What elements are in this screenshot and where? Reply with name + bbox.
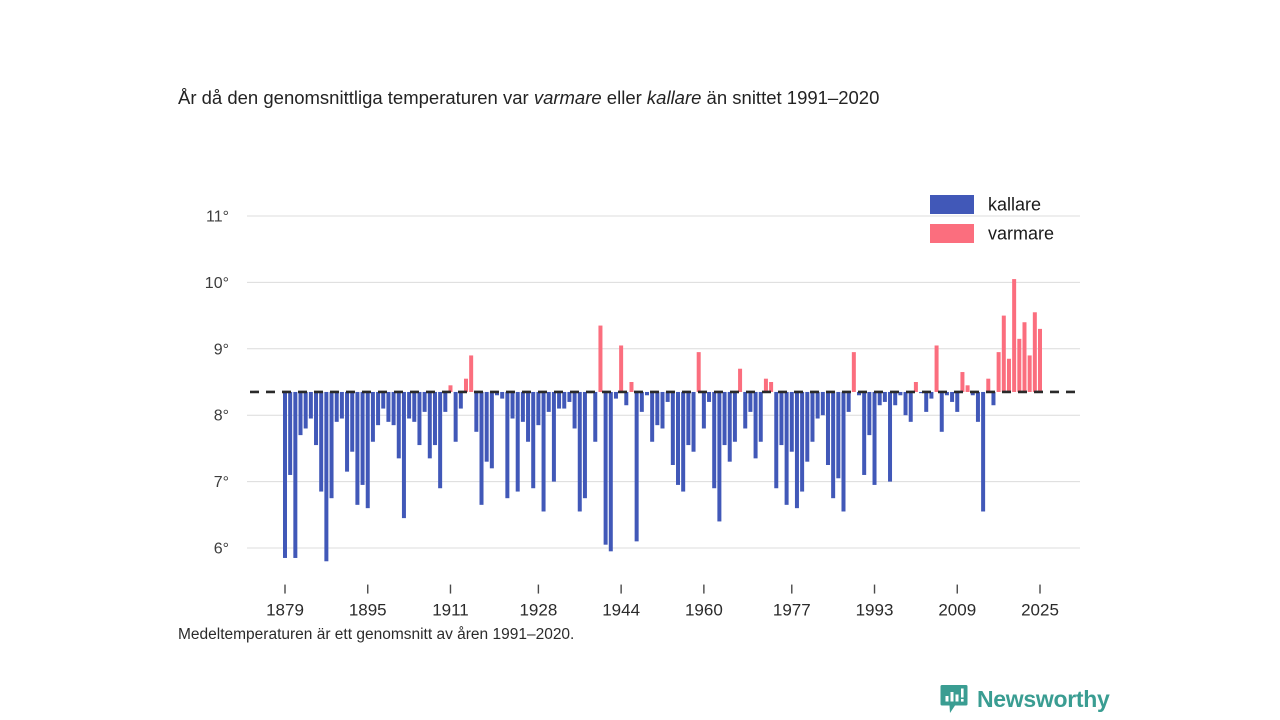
bar-1984[interactable] — [826, 392, 830, 465]
bar-1951[interactable] — [655, 392, 659, 425]
legend-label-kallare[interactable]: kallare — [988, 195, 1041, 215]
bar-1885[interactable] — [314, 392, 318, 445]
bar-1928[interactable] — [536, 392, 540, 425]
bar-2022[interactable] — [1022, 322, 1026, 392]
bar-1881[interactable] — [293, 392, 297, 558]
x-axis-ticks: 1879189519111928194419601977199320092025 — [266, 585, 1059, 620]
bar-1931[interactable] — [552, 392, 556, 482]
chart-legend: kallarevarmare — [930, 195, 1054, 244]
bar-2019[interactable] — [1007, 359, 1011, 392]
gridlines — [247, 216, 1080, 548]
bar-1962[interactable] — [712, 392, 716, 488]
bar-1914[interactable] — [464, 379, 468, 392]
bar-1953[interactable] — [666, 392, 670, 402]
x-axis-tick-label: 1944 — [602, 601, 640, 620]
bar-1958[interactable] — [692, 392, 696, 452]
bar-2018[interactable] — [1002, 316, 1006, 392]
x-axis-tick-label: 1895 — [349, 601, 387, 620]
chart-plot-area: 6°7°8°9°10°11° 1879189519111928194419601… — [0, 0, 1280, 720]
bar-1904[interactable] — [412, 392, 416, 422]
bar-1926[interactable] — [526, 392, 530, 442]
temperature-bar-chart: 6°7°8°9°10°11° 1879189519111928194419601… — [0, 0, 1280, 720]
x-axis-tick-label: 1977 — [773, 601, 811, 620]
bar-1896[interactable] — [371, 392, 375, 442]
bar-1950[interactable] — [650, 392, 654, 442]
bar-1965[interactable] — [728, 392, 732, 462]
bar-2005[interactable] — [935, 345, 939, 391]
bar-1971[interactable] — [759, 392, 763, 442]
bar-2000[interactable] — [909, 392, 913, 422]
bar-1901[interactable] — [397, 392, 401, 458]
bar-1912[interactable] — [454, 392, 458, 442]
y-axis-tick-label: 9° — [214, 341, 229, 358]
bar-2013[interactable] — [976, 392, 980, 422]
legend-swatch-varmare — [930, 224, 974, 243]
bar-2017[interactable] — [997, 352, 1001, 392]
bar-1966[interactable] — [733, 392, 737, 442]
bar-1988[interactable] — [847, 392, 851, 412]
bar-1946[interactable] — [629, 382, 633, 392]
legend-label-varmare[interactable]: varmare — [988, 224, 1054, 244]
bar-1923[interactable] — [511, 392, 515, 419]
y-axis-tick-label: 8° — [214, 408, 229, 425]
bar-1890[interactable] — [340, 392, 344, 419]
bar-1945[interactable] — [624, 392, 628, 405]
bar-1949[interactable] — [645, 392, 649, 395]
chart-footnote: Medeltemperaturen är ett genomsnitt av å… — [178, 626, 574, 644]
bar-1887[interactable] — [324, 392, 328, 561]
bar-1930[interactable] — [547, 392, 551, 412]
bar-1980[interactable] — [805, 392, 809, 462]
bar-2025[interactable] — [1038, 329, 1042, 392]
bar-2023[interactable] — [1028, 355, 1032, 392]
bar-2020[interactable] — [1012, 279, 1016, 392]
bar-1927[interactable] — [531, 392, 535, 488]
bar-2009[interactable] — [955, 392, 959, 412]
bar-1922[interactable] — [505, 392, 509, 498]
bar-1897[interactable] — [376, 392, 380, 425]
bar-1991[interactable] — [862, 392, 866, 475]
y-axis-ticks: 6°7°8°9°10°11° — [205, 209, 229, 558]
bar-1970[interactable] — [754, 392, 758, 458]
bar-2008[interactable] — [950, 392, 954, 402]
x-axis-tick-label: 1911 — [432, 601, 469, 620]
bar-1979[interactable] — [800, 392, 804, 492]
bar-1989[interactable] — [852, 352, 856, 392]
bar-1908[interactable] — [433, 392, 437, 445]
bar-1929[interactable] — [542, 392, 546, 512]
brand-logo[interactable]: Newsworthy — [940, 684, 1109, 714]
bar-1898[interactable] — [381, 392, 385, 409]
brand-name: Newsworthy — [977, 686, 1109, 713]
bar-1891[interactable] — [345, 392, 349, 472]
bar-1925[interactable] — [521, 392, 525, 422]
y-axis-tick-label: 7° — [214, 474, 229, 491]
bar-1978[interactable] — [795, 392, 799, 508]
bar-1900[interactable] — [392, 392, 396, 425]
bar-1905[interactable] — [417, 392, 421, 445]
bar-2015[interactable] — [986, 379, 990, 392]
bar-1899[interactable] — [386, 392, 390, 422]
bar-1952[interactable] — [661, 392, 665, 429]
bar-1954[interactable] — [671, 392, 675, 465]
bar-2003[interactable] — [924, 392, 928, 412]
y-axis-tick-label: 11° — [206, 209, 229, 226]
y-axis-tick-label: 10° — [205, 275, 229, 292]
bar-1996[interactable] — [888, 392, 892, 482]
bar-2014[interactable] — [981, 392, 985, 512]
bar-1957[interactable] — [686, 392, 690, 445]
bar-1932[interactable] — [557, 392, 561, 409]
bar-1959[interactable] — [697, 352, 701, 392]
bar-1976[interactable] — [785, 392, 789, 505]
bar-1940[interactable] — [598, 326, 602, 392]
bar-1895[interactable] — [366, 392, 370, 508]
bar-1894[interactable] — [361, 392, 365, 485]
bar-1889[interactable] — [335, 392, 339, 422]
bar-2001[interactable] — [914, 382, 918, 392]
bar-1992[interactable] — [867, 392, 871, 435]
x-axis-tick-label: 1928 — [519, 601, 557, 620]
bar-1935[interactable] — [573, 392, 577, 429]
bar-1906[interactable] — [423, 392, 427, 412]
bar-1973[interactable] — [769, 382, 773, 392]
bar-1941[interactable] — [604, 392, 608, 545]
bar-1994[interactable] — [878, 392, 882, 405]
bar-1947[interactable] — [635, 392, 639, 541]
bar-1972[interactable] — [764, 379, 768, 392]
bar-1909[interactable] — [438, 392, 442, 488]
bar-1879[interactable] — [283, 392, 287, 558]
bar-1968[interactable] — [743, 392, 747, 429]
bar-1883[interactable] — [304, 392, 308, 429]
bar-1963[interactable] — [717, 392, 721, 521]
bars-series — [283, 279, 1042, 561]
bar-1934[interactable] — [567, 392, 571, 402]
bar-1942[interactable] — [609, 392, 613, 551]
bar-1977[interactable] — [790, 392, 794, 452]
bar-2016[interactable] — [991, 392, 995, 405]
bar-1943[interactable] — [614, 392, 618, 399]
bar-1888[interactable] — [330, 392, 334, 498]
legend-swatch-kallare — [930, 195, 974, 214]
bar-1960[interactable] — [702, 392, 706, 429]
bar-1936[interactable] — [578, 392, 582, 512]
bar-1974[interactable] — [774, 392, 778, 488]
bar-1939[interactable] — [593, 392, 597, 442]
bar-1886[interactable] — [319, 392, 323, 492]
x-axis-tick-label: 1993 — [856, 601, 894, 620]
bar-1903[interactable] — [407, 392, 411, 419]
y-axis-tick-label: 6° — [214, 541, 229, 558]
bar-1987[interactable] — [841, 392, 845, 512]
bar-1948[interactable] — [640, 392, 644, 412]
bar-2006[interactable] — [940, 392, 944, 432]
bar-1917[interactable] — [480, 392, 484, 505]
bar-1880[interactable] — [288, 392, 292, 475]
bar-1967[interactable] — [738, 369, 742, 392]
x-axis-tick-label: 2025 — [1021, 601, 1059, 620]
bar-1995[interactable] — [883, 392, 887, 402]
bar-1937[interactable] — [583, 392, 587, 498]
bar-1986[interactable] — [836, 392, 840, 478]
bar-1924[interactable] — [516, 392, 520, 492]
bar-1983[interactable] — [821, 392, 825, 415]
bar-1933[interactable] — [562, 392, 566, 409]
bar-1981[interactable] — [810, 392, 814, 442]
bar-1892[interactable] — [350, 392, 354, 452]
bar-1975[interactable] — [779, 392, 783, 445]
newsworthy-logo-icon — [940, 684, 968, 714]
bar-1982[interactable] — [816, 392, 820, 419]
bar-1993[interactable] — [873, 392, 877, 485]
bar-1907[interactable] — [428, 392, 432, 458]
bar-1919[interactable] — [490, 392, 494, 468]
bar-2024[interactable] — [1033, 312, 1037, 392]
bar-1985[interactable] — [831, 392, 835, 498]
bar-1882[interactable] — [299, 392, 303, 435]
bar-1893[interactable] — [355, 392, 359, 505]
bar-1915[interactable] — [469, 355, 473, 392]
bar-1913[interactable] — [459, 392, 463, 409]
chart-page: År då den genomsnittliga temperaturen va… — [0, 0, 1280, 720]
bar-1997[interactable] — [893, 392, 897, 405]
bar-1999[interactable] — [904, 392, 908, 415]
x-axis-tick-label: 1960 — [685, 601, 723, 620]
x-axis-tick-label: 1879 — [266, 601, 304, 620]
bar-2021[interactable] — [1017, 339, 1021, 392]
x-axis-tick-label: 2009 — [938, 601, 976, 620]
bar-1955[interactable] — [676, 392, 680, 485]
bar-1910[interactable] — [443, 392, 447, 412]
bar-1964[interactable] — [723, 392, 727, 445]
bar-2011[interactable] — [966, 385, 970, 392]
bar-1921[interactable] — [500, 392, 504, 399]
bar-1969[interactable] — [748, 392, 752, 412]
bar-2010[interactable] — [960, 372, 964, 392]
bar-1956[interactable] — [681, 392, 685, 492]
bar-1902[interactable] — [402, 392, 406, 518]
bar-1944[interactable] — [619, 345, 623, 391]
bar-1961[interactable] — [707, 392, 711, 402]
bar-1916[interactable] — [474, 392, 478, 432]
bar-1884[interactable] — [309, 392, 313, 419]
bar-1918[interactable] — [485, 392, 489, 462]
